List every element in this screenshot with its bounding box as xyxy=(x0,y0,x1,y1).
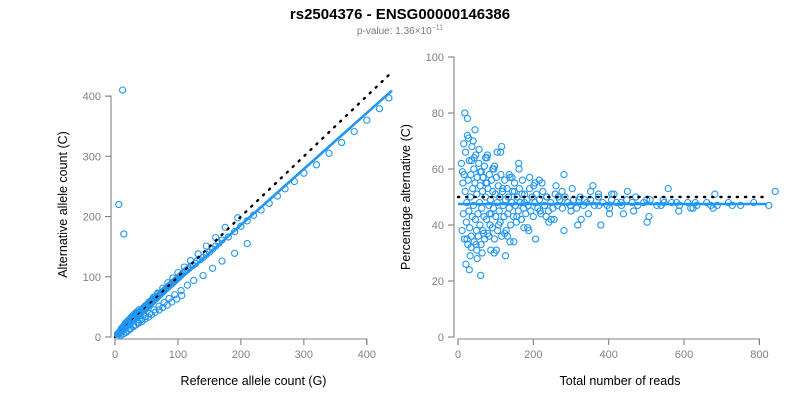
data-point xyxy=(624,188,630,194)
data-point xyxy=(598,222,604,228)
x-tick-label: 0 xyxy=(455,349,461,361)
data-point xyxy=(466,267,472,273)
data-point xyxy=(458,160,464,166)
x-tick-label: 300 xyxy=(295,349,313,361)
data-point xyxy=(232,250,238,256)
data-point xyxy=(351,129,357,135)
regression-fit-line xyxy=(115,91,392,337)
data-point xyxy=(590,183,596,189)
y-tick-label: 40 xyxy=(432,220,444,232)
x-tick-label: 600 xyxy=(675,349,693,361)
data-point xyxy=(540,188,546,194)
data-point xyxy=(461,141,467,147)
data-point xyxy=(313,162,319,168)
data-point xyxy=(467,225,473,231)
data-point xyxy=(631,208,637,214)
x-tick-label: 100 xyxy=(169,349,187,361)
data-point xyxy=(474,256,480,262)
data-point xyxy=(475,211,481,217)
y-tick-label: 60 xyxy=(432,164,444,176)
x-tick-label: 400 xyxy=(600,349,618,361)
data-point xyxy=(585,211,591,217)
y-axis-label: Alternative allele count (C) xyxy=(56,131,70,278)
data-point xyxy=(644,219,650,225)
data-point xyxy=(462,188,468,194)
data-points xyxy=(458,110,778,279)
data-point xyxy=(530,214,536,220)
x-tick-label: 0 xyxy=(112,349,118,361)
data-point xyxy=(184,282,190,288)
y-tick-label: 300 xyxy=(83,151,101,163)
data-point xyxy=(561,172,567,178)
data-point xyxy=(121,231,127,237)
panel-left: 01002003004000100200300400Reference alle… xyxy=(56,72,392,388)
data-point xyxy=(519,177,525,183)
x-tick-label: 200 xyxy=(524,349,542,361)
data-point xyxy=(471,166,477,172)
y-axis-label: Percentage alternative (C) xyxy=(399,124,413,270)
data-point xyxy=(772,188,778,194)
data-point xyxy=(496,208,502,214)
y-tick-label: 200 xyxy=(83,212,101,224)
data-point xyxy=(339,139,345,145)
data-point xyxy=(507,239,513,245)
data-point xyxy=(476,146,482,152)
x-tick-label: 400 xyxy=(358,349,376,361)
data-point xyxy=(376,106,382,112)
y-tick-label: 20 xyxy=(432,276,444,288)
data-point xyxy=(462,149,468,155)
data-point xyxy=(191,277,197,283)
data-point xyxy=(326,150,332,156)
data-point xyxy=(575,222,581,228)
data-point xyxy=(467,253,473,259)
y-tick-label: 400 xyxy=(83,91,101,103)
data-point xyxy=(200,273,206,279)
data-point xyxy=(219,258,225,264)
data-point xyxy=(559,188,565,194)
data-point xyxy=(464,116,470,122)
data-point xyxy=(116,201,122,207)
x-tick-label: 800 xyxy=(750,349,768,361)
data-point xyxy=(203,243,209,249)
y-tick-label: 0 xyxy=(95,332,101,344)
data-point xyxy=(502,253,508,259)
identity-reference-line xyxy=(115,72,392,337)
x-tick-label: 200 xyxy=(232,349,250,361)
y-tick-label: 0 xyxy=(438,332,444,344)
data-point xyxy=(559,205,565,211)
panel-right: 0200400600800020406080100Total number of… xyxy=(399,52,778,388)
data-point xyxy=(210,265,216,271)
y-axis-line xyxy=(448,57,454,337)
data-point xyxy=(543,214,549,220)
data-point xyxy=(472,127,478,133)
data-point xyxy=(364,117,370,123)
data-point xyxy=(478,272,484,278)
data-point xyxy=(479,205,485,211)
data-point xyxy=(561,228,567,234)
data-point xyxy=(459,228,465,234)
data-point xyxy=(553,183,559,189)
y-tick-label: 100 xyxy=(426,52,444,64)
ase-figure: rs2504376 - ENSG00000146386 p-value: 1.3… xyxy=(0,0,800,400)
data-point xyxy=(527,174,533,180)
x-axis-label: Reference allele count (G) xyxy=(181,374,327,388)
plot-canvas: 01002003004000100200300400Reference alle… xyxy=(0,0,800,400)
data-point xyxy=(533,236,539,242)
data-point xyxy=(620,211,626,217)
y-tick-label: 80 xyxy=(432,108,444,120)
data-point xyxy=(244,241,250,247)
x-axis-label: Total number of reads xyxy=(560,374,681,388)
data-point xyxy=(665,186,671,192)
data-point xyxy=(569,186,575,192)
data-point xyxy=(481,163,487,169)
data-point xyxy=(120,87,126,93)
y-tick-label: 100 xyxy=(83,272,101,284)
